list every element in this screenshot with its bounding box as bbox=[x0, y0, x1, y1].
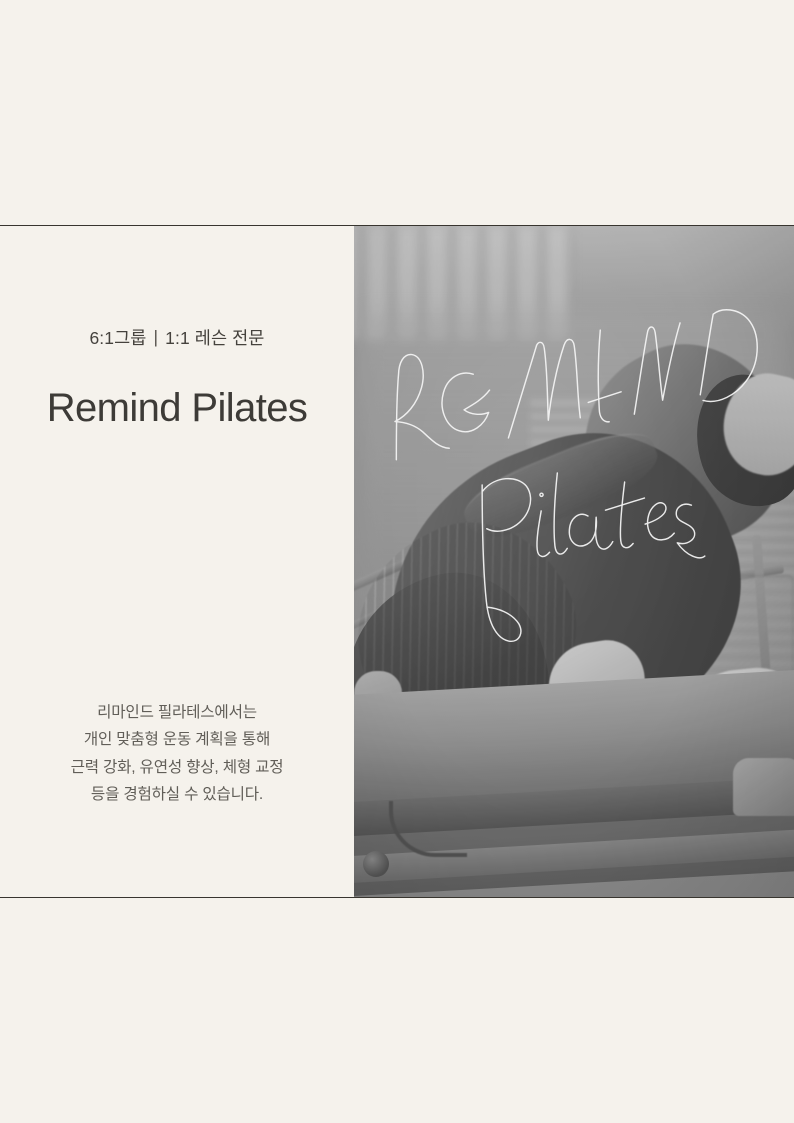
hero-photo: REMIND Pilates bbox=[354, 226, 794, 897]
eyebrow-tagline: 6:1그룹|1:1 레슨 전문 bbox=[0, 325, 354, 350]
photo-tone-overlay bbox=[354, 226, 794, 897]
top-margin-band bbox=[0, 0, 794, 225]
hero-photo-stage bbox=[354, 226, 794, 897]
poster-page: 6:1그룹|1:1 레슨 전문 Remind Pilates 리마인드 필라테스… bbox=[0, 0, 794, 1123]
hero-description-line: 개인 맞춤형 운동 계획을 통해 bbox=[0, 726, 354, 753]
eyebrow-private-label: 1:1 레슨 전문 bbox=[165, 328, 264, 348]
hero-description: 리마인드 필라테스에서는 개인 맞춤형 운동 계획을 통해 근력 강화, 유연성… bbox=[0, 699, 354, 809]
hero-text-column: 6:1그룹|1:1 레슨 전문 Remind Pilates 리마인드 필라테스… bbox=[0, 226, 354, 897]
page-title: Remind Pilates bbox=[0, 386, 354, 431]
hero-description-line: 근력 강화, 유연성 향상, 체형 교정 bbox=[0, 754, 354, 781]
eyebrow-group-label: 6:1그룹 bbox=[89, 328, 146, 348]
bottom-divider-rule bbox=[0, 897, 794, 898]
hero-description-line: 등을 경험하실 수 있습니다. bbox=[0, 781, 354, 808]
eyebrow-separator: | bbox=[147, 327, 166, 348]
bottom-margin-band bbox=[0, 898, 794, 1123]
hero-band: 6:1그룹|1:1 레슨 전문 Remind Pilates 리마인드 필라테스… bbox=[0, 226, 794, 897]
top-divider-rule bbox=[0, 225, 794, 226]
hero-description-line: 리마인드 필라테스에서는 bbox=[0, 699, 354, 726]
